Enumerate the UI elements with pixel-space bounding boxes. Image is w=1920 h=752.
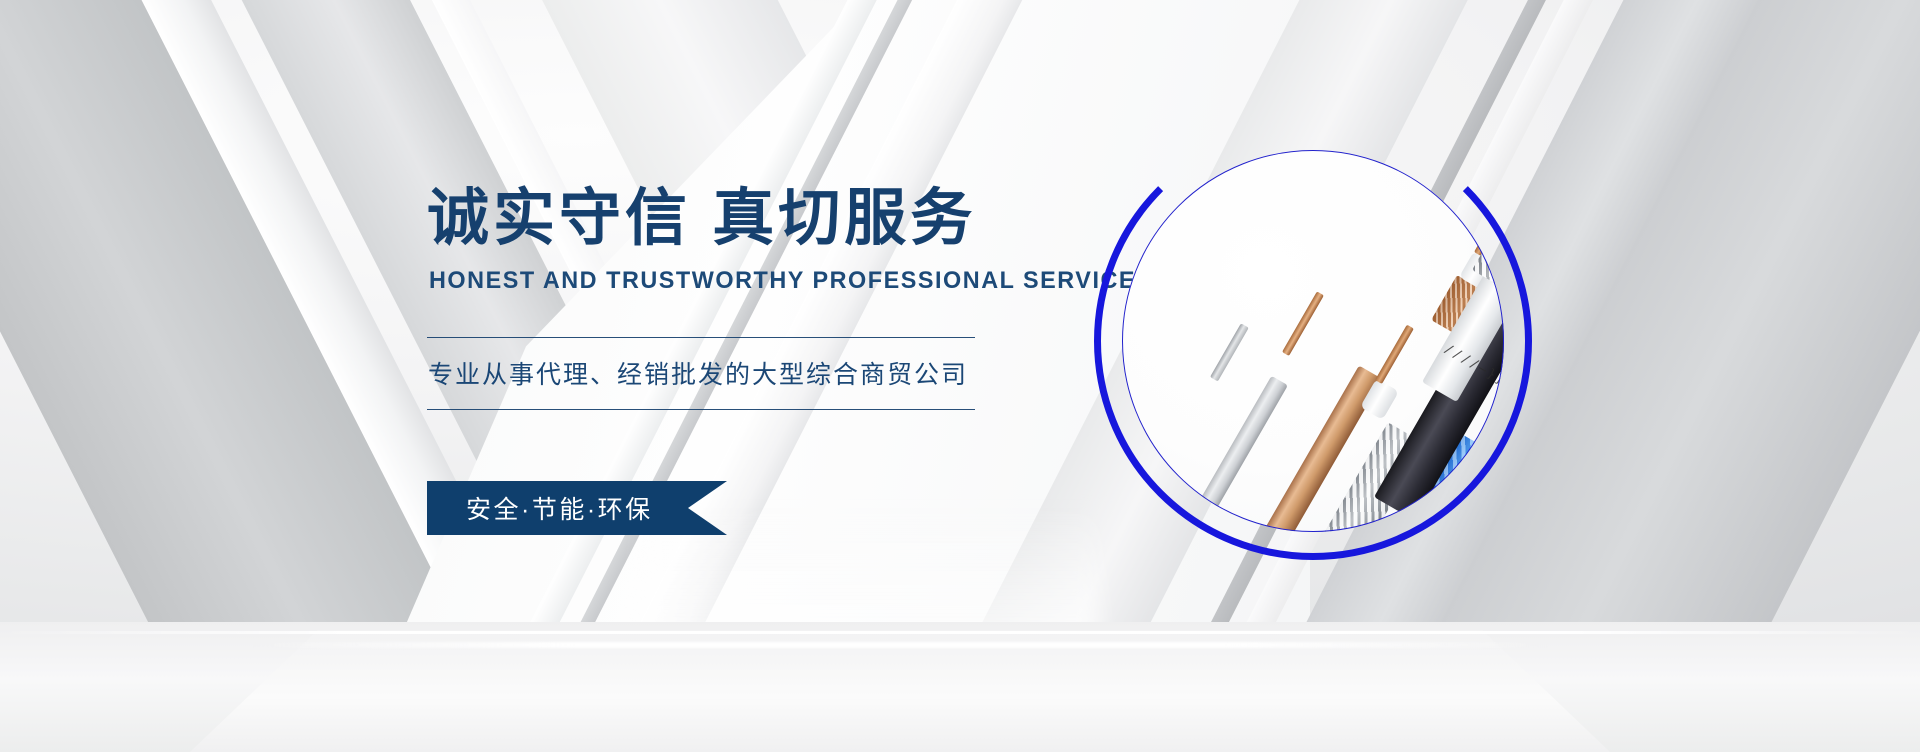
cable-grey-jacket <box>1164 376 1288 532</box>
background-plinth <box>190 630 1610 752</box>
hero-subline-english: HONEST AND TRUSTWORTHY PROFESSIONAL SERV… <box>429 267 1019 295</box>
cable-copper-core <box>1282 291 1324 356</box>
divider-top <box>427 337 975 338</box>
hero-banner: 诚实守信 真切服务 HONEST AND TRUSTWORTHY PROFESS… <box>0 0 1920 752</box>
hero-tagline: 专业从事代理、经销批发的大型综合商贸公司 <box>427 338 1047 409</box>
cable-grey-tip <box>1210 323 1249 381</box>
background-plinth-highlight <box>250 642 1550 648</box>
product-photo-coaxial-cables: ////—}} <box>1122 150 1504 532</box>
feature-ribbon-label: 安全·节能·环保 <box>427 490 653 526</box>
product-medallion: ////—}} <box>1122 150 1504 532</box>
divider-bottom <box>427 409 975 410</box>
hero-headline: 诚实守信 真切服务 <box>427 186 1047 253</box>
background-floor-edge <box>0 631 1920 634</box>
hero-copy: 诚实守信 真切服务 HONEST AND TRUSTWORTHY PROFESS… <box>427 186 1047 410</box>
feature-ribbon-badge: 安全·节能·环保 <box>427 481 727 535</box>
cable-silver-center-conductor <box>1375 325 1414 384</box>
